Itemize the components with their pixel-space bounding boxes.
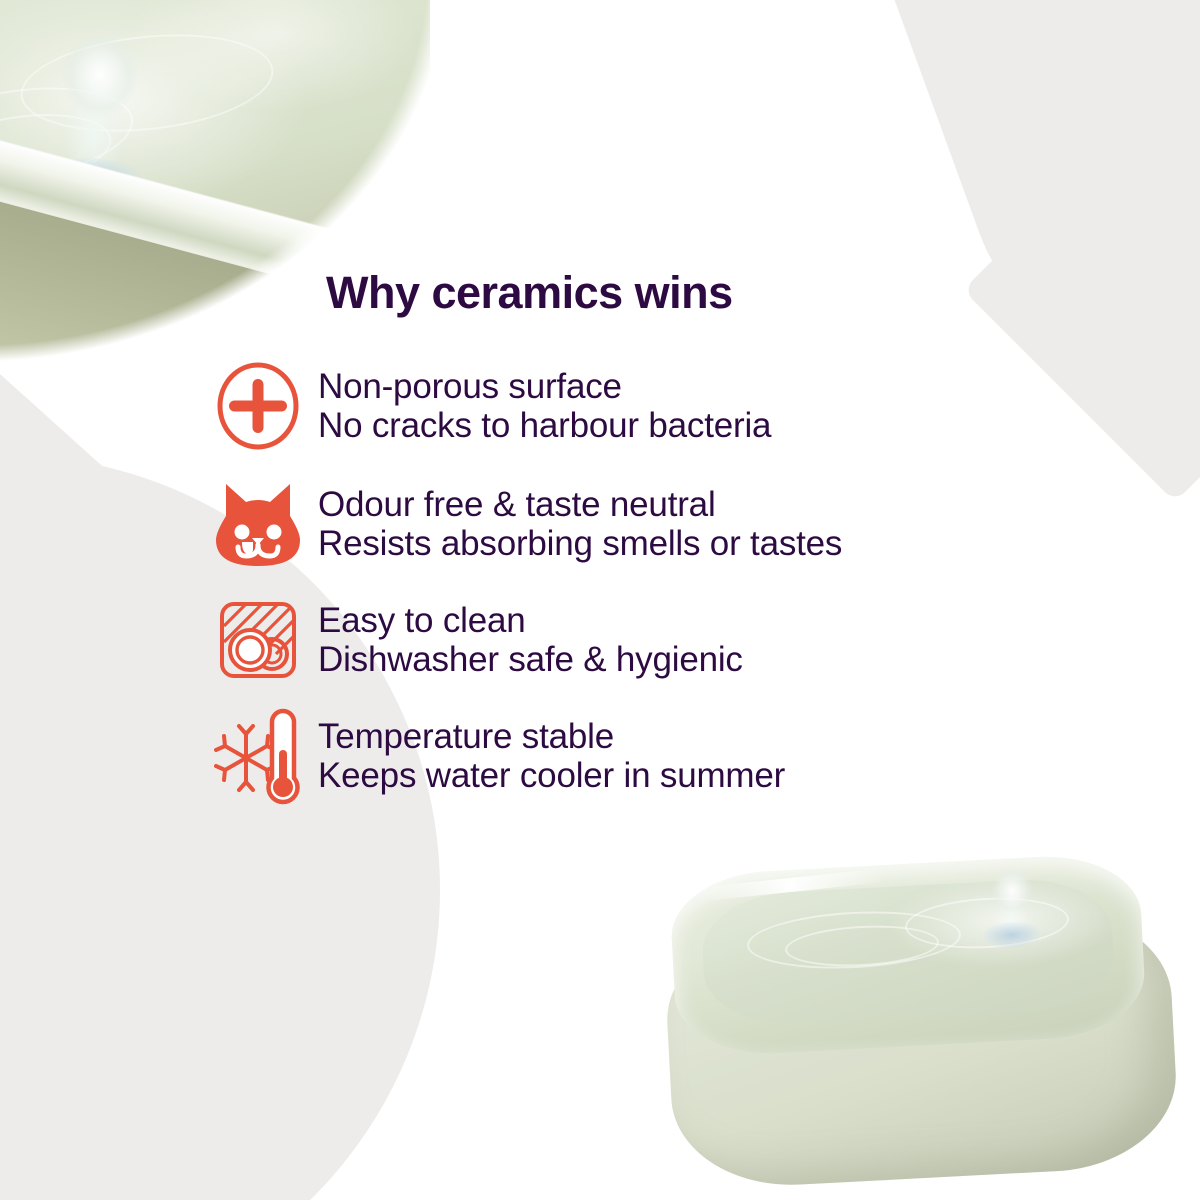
plus-circle-icon: [212, 358, 304, 454]
feature-title: Temperature stable: [318, 717, 785, 756]
feature-title: Easy to clean: [318, 601, 743, 640]
feature-subtitle: Dishwasher safe & hygienic: [318, 640, 743, 679]
feature-subtitle: No cracks to harbour bacteria: [318, 406, 771, 445]
thermometer-snowflake-icon: [212, 708, 304, 804]
feature-row-odour-free: Odour free & taste neutral Resists absor…: [212, 476, 1112, 572]
feature-title: Non-porous surface: [318, 367, 771, 406]
dishwasher-plates-icon: [212, 592, 304, 688]
feature-list: Non-porous surface No cracks to harbour …: [212, 358, 1112, 824]
feature-text: Temperature stable Keeps water cooler in…: [318, 717, 785, 795]
feature-subtitle: Resists absorbing smells or tastes: [318, 524, 842, 563]
poster-content: Why ceramics wins Non-porous surface No …: [0, 0, 1200, 1200]
feature-row-temperature-stable: Temperature stable Keeps water cooler in…: [212, 708, 1112, 804]
feature-text: Odour free & taste neutral Resists absor…: [318, 485, 842, 563]
feature-subtitle: Keeps water cooler in summer: [318, 756, 785, 795]
page-title: Why ceramics wins: [326, 270, 733, 315]
feature-row-non-porous: Non-porous surface No cracks to harbour …: [212, 358, 1112, 454]
poster-canvas: Why ceramics wins Non-porous surface No …: [0, 0, 1200, 1200]
feature-title: Odour free & taste neutral: [318, 485, 842, 524]
feature-row-easy-to-clean: Easy to clean Dishwasher safe & hygienic: [212, 592, 1112, 688]
feature-text: Non-porous surface No cracks to harbour …: [318, 367, 771, 445]
cat-face-icon: [212, 476, 304, 572]
feature-text: Easy to clean Dishwasher safe & hygienic: [318, 601, 743, 679]
